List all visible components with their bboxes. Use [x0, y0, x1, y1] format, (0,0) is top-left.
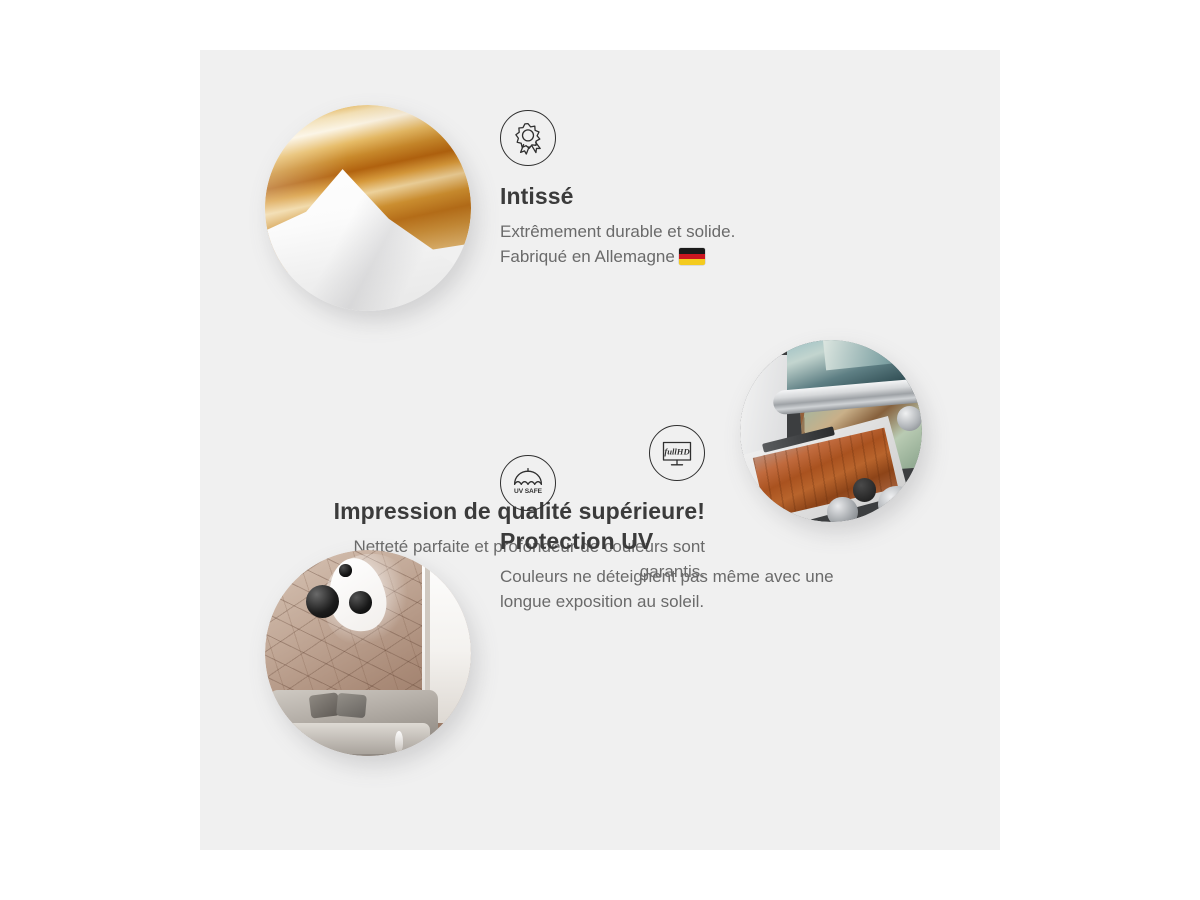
feature-image-protection-uv	[265, 550, 471, 756]
uv-safe-umbrella-icon: UV SAFE	[500, 455, 556, 511]
svg-text:UV SAFE: UV SAFE	[514, 488, 543, 495]
mural-sphere-large	[306, 585, 339, 618]
room-cushion-right	[336, 693, 367, 718]
mural-sphere-small	[339, 564, 351, 576]
room-sofa-seat	[273, 723, 430, 754]
award-rosette-icon	[500, 110, 556, 166]
feature-desc-line1: Extrêmement durable et solide.	[500, 222, 735, 241]
feature-title-intisse: Intissé	[500, 183, 820, 210]
product-feature-canvas: Intissé Extrêmement durable et solide. F…	[200, 50, 1000, 850]
feature-image-intisse	[265, 105, 471, 311]
feature-title-protection-uv: Protection UV	[500, 528, 880, 555]
feature-block-intisse: Intissé Extrêmement durable et solide. F…	[500, 110, 820, 269]
feature-desc-line2: Fabriqué en Allemagne	[500, 247, 675, 266]
feature-desc-line2: longue exposition au soleil.	[500, 592, 704, 611]
printer-wheel-right	[897, 406, 922, 431]
printer-wheel-large	[878, 486, 914, 522]
germany-flag-icon	[679, 248, 705, 265]
feature-description-intisse: Extrêmement durable et solide. Fabriqué …	[500, 219, 820, 269]
wallpaper-roll-photo	[265, 105, 471, 311]
feature-block-protection-uv: UV SAFE Protection UV Couleurs ne déteig…	[500, 455, 880, 614]
mural-sphere-medium	[349, 591, 372, 614]
room-cushion-left	[309, 693, 340, 719]
living-room-photo	[265, 550, 471, 756]
feature-description-protection-uv: Couleurs ne déteignent pas même avec une…	[500, 564, 880, 614]
room-glass-object	[395, 731, 403, 752]
feature-desc-line1: Couleurs ne déteignent pas même avec une	[500, 567, 834, 586]
